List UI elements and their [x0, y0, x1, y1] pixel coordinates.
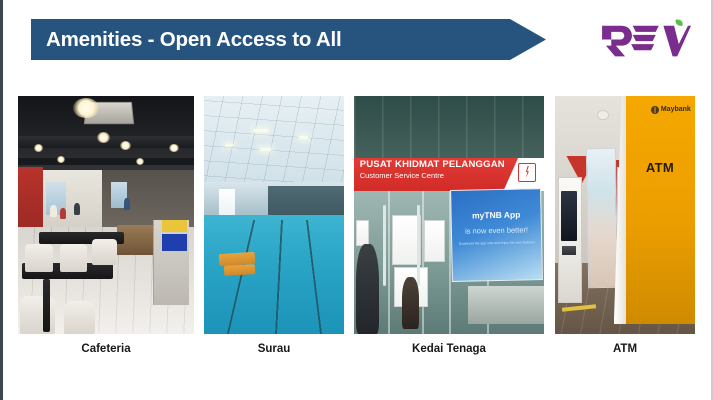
- atm-photo: Maybank ATM: [555, 96, 695, 334]
- caption-kedai-tenaga: Kedai Tenaga: [354, 343, 544, 355]
- mytnb-banner: myTNB App is now even better! Download t…: [450, 188, 543, 282]
- mytnb-caption: Download the app now and enjoy the new f…: [452, 240, 541, 246]
- mytnb-title: myTNB App: [451, 209, 540, 221]
- kedai-tenaga-photo: PUSAT KHIDMAT PELANGGAN Customer Service…: [354, 96, 544, 334]
- maybank-brand-text: Maybank: [661, 106, 691, 113]
- cafeteria-photo: [18, 96, 194, 334]
- photo-card-atm[interactable]: Maybank ATM: [555, 96, 695, 334]
- mytnb-subtitle: is now even better!: [452, 225, 541, 236]
- caption-cafeteria: Cafeteria: [18, 343, 194, 355]
- photo-card-kedai-tenaga[interactable]: PUSAT KHIDMAT PELANGGAN Customer Service…: [354, 96, 544, 334]
- tnb-logo-icon: [518, 163, 536, 182]
- maybank-tiger-logo-icon: [651, 106, 659, 114]
- surau-photo: [204, 96, 344, 334]
- photo-card-surau[interactable]: [204, 96, 344, 334]
- maybank-brand: Maybank: [651, 106, 691, 114]
- rev-logo: [599, 18, 691, 58]
- signage-line-1: PUSAT KHIDMAT PELANGGAN: [360, 160, 493, 170]
- page-title: Amenities - Open Access to All: [31, 28, 342, 52]
- slide-canvas: Amenities - Open Access to All: [0, 0, 713, 400]
- atm-label: ATM: [646, 160, 674, 175]
- title-banner: Amenities - Open Access to All: [31, 19, 546, 60]
- photo-card-cafeteria[interactable]: [18, 96, 194, 334]
- photo-gallery: PUSAT KHIDMAT PELANGGAN Customer Service…: [0, 96, 713, 336]
- kedai-signage: PUSAT KHIDMAT PELANGGAN Customer Service…: [360, 160, 493, 180]
- caption-atm: ATM: [555, 343, 695, 355]
- caption-surau: Surau: [204, 343, 344, 355]
- leaf-accent-icon: [676, 19, 683, 25]
- signage-line-2: Customer Service Centre: [360, 172, 493, 180]
